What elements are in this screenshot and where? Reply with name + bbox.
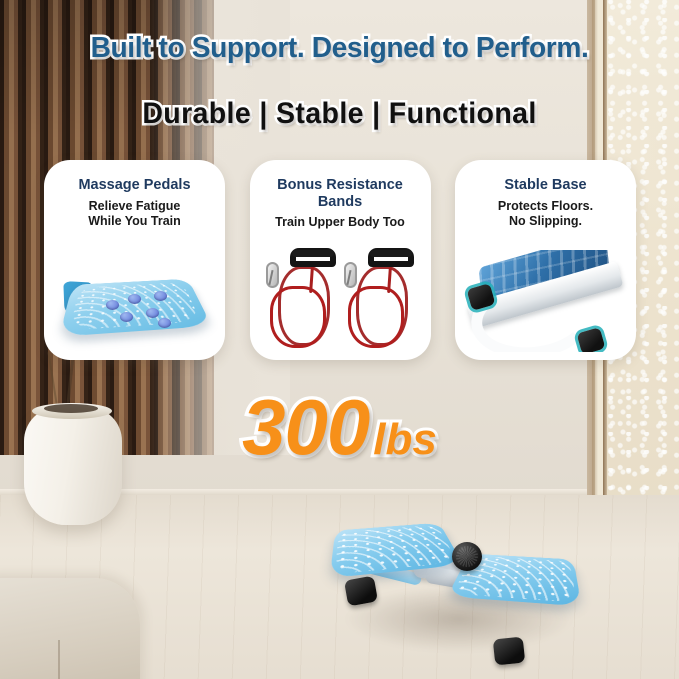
card-title: Stable Base — [463, 177, 628, 194]
headline-subtitle: Durable | Stable | Functional — [17, 97, 662, 131]
resistance-band-unit — [344, 248, 418, 352]
weight-unit: lbs — [373, 415, 437, 464]
sofa-seam — [58, 640, 60, 679]
band-handle-grip — [292, 250, 334, 257]
bands-illustration — [250, 248, 431, 352]
band-handle-grip — [370, 250, 412, 257]
product-rubber-foot — [344, 576, 378, 607]
band-tube — [270, 286, 326, 348]
hero-product-image — [330, 500, 590, 675]
card-title: Massage Pedals — [52, 177, 217, 194]
product-adjust-knob — [452, 542, 482, 571]
weight-capacity-callout: 300lbs — [0, 388, 679, 466]
feature-card-row: Massage Pedals Relieve Fatigue While You… — [44, 160, 636, 360]
product-marketing-poster: Built to Support. Designed to Perform. D… — [0, 0, 679, 679]
headline-main: Built to Support. Designed to Perform. — [10, 32, 669, 65]
feature-card-resistance-bands[interactable]: Bonus Resistance Bands Train Upper Body … — [250, 160, 431, 360]
card-subtitle: Protects Floors. No Slipping. — [463, 199, 628, 229]
massage-nub — [154, 291, 167, 301]
massage-nub — [146, 308, 159, 318]
stable-base-image — [455, 246, 636, 354]
feature-card-massage-pedals[interactable]: Massage Pedals Relieve Fatigue While You… — [44, 160, 225, 360]
massage-nub — [128, 294, 141, 304]
massage-nub — [106, 300, 119, 310]
card-title: Bonus Resistance Bands — [258, 177, 423, 210]
base-illustration — [461, 250, 631, 352]
pedal-illustration — [58, 260, 213, 344]
card-subtitle: Relieve Fatigue While You Train — [52, 199, 217, 229]
band-tube — [348, 286, 404, 348]
beige-sofa — [0, 578, 140, 679]
massage-nub — [158, 318, 171, 328]
product-rubber-foot — [493, 637, 526, 666]
weight-number: 300 — [242, 383, 369, 471]
feature-card-stable-base[interactable]: Stable Base Protects Floors. No Slipping… — [455, 160, 636, 360]
massage-pedal-image — [44, 246, 225, 354]
resistance-bands-image — [250, 246, 431, 354]
card-subtitle: Train Upper Body Too — [258, 215, 423, 230]
resistance-band-unit — [266, 248, 340, 352]
massage-nub — [120, 312, 133, 322]
